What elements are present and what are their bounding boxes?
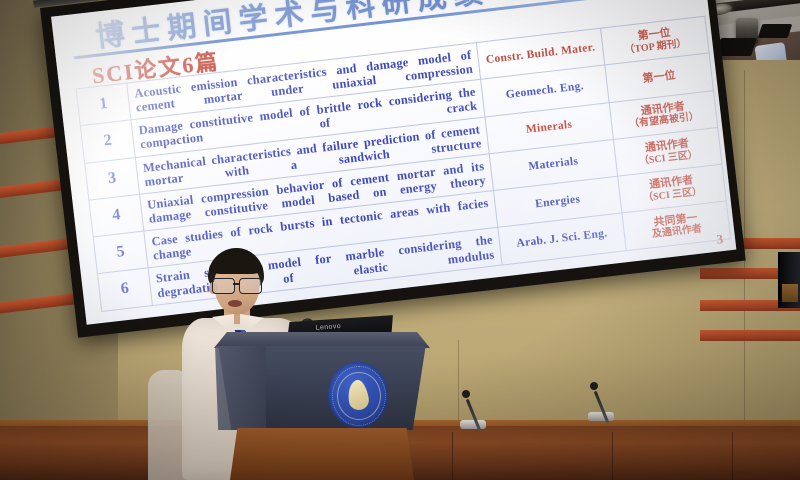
row-number: 1 xyxy=(76,83,131,126)
table-panel xyxy=(612,432,733,480)
mic-head-icon xyxy=(462,390,470,398)
row-number: 6 xyxy=(97,268,152,311)
lectern xyxy=(214,332,430,480)
barndoor-icon xyxy=(758,24,793,38)
speaker-mouth xyxy=(228,300,242,307)
mic-base xyxy=(588,412,614,421)
mic-head-icon xyxy=(590,382,598,390)
lectern-side-face xyxy=(214,346,266,430)
table-microphone xyxy=(460,420,486,429)
lens-left xyxy=(212,278,235,294)
row-number: 2 xyxy=(80,120,135,163)
lecture-hall-photo: 博士期间学术与科研成绩 SCI论文6篇 1 Acoustic emission … xyxy=(0,0,800,480)
university-emblem-icon xyxy=(328,362,388,428)
mic-base xyxy=(460,420,486,429)
lens-right xyxy=(239,278,262,294)
table-panel xyxy=(452,432,613,480)
row-number: 3 xyxy=(85,157,140,200)
eyeglasses-icon xyxy=(212,278,262,293)
table-microphone xyxy=(588,412,614,421)
wall-stripe xyxy=(700,330,800,341)
row-number: 5 xyxy=(93,231,148,274)
row-number: 4 xyxy=(89,194,144,237)
side-monitor-screen xyxy=(782,284,798,302)
author-role-main: 第一位 xyxy=(642,70,676,86)
table-panel xyxy=(732,432,800,480)
wall-seam xyxy=(458,340,459,432)
lectern-top xyxy=(214,332,430,348)
lectern-base xyxy=(230,428,414,480)
